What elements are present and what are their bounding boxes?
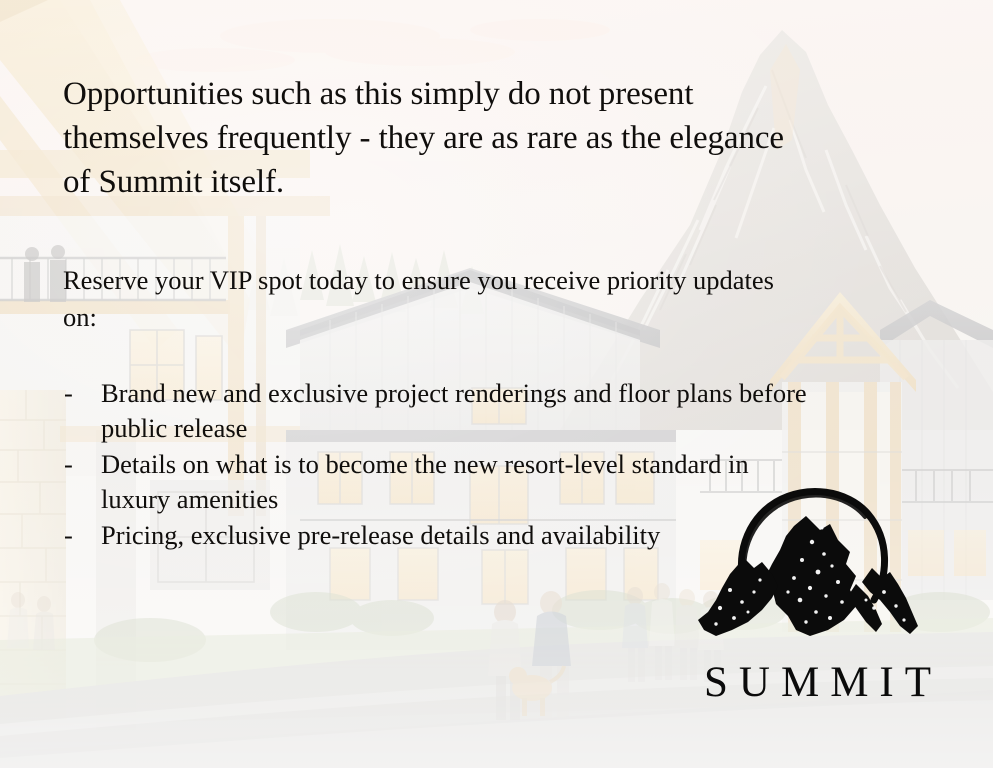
headline-text: Opportunities such as this simply do not…	[63, 72, 805, 204]
subheadline-text: Reserve your VIP spot today to ensure yo…	[63, 262, 811, 336]
summit-logo: SUMMIT	[660, 480, 960, 720]
summit-wordmark: SUMMIT	[660, 660, 960, 706]
bullet-dash-icon: -	[64, 376, 73, 411]
list-item-label: Brand new and exclusive project renderin…	[101, 378, 807, 443]
summit-mountain-logo-icon	[660, 480, 950, 660]
bullet-dash-icon: -	[64, 518, 73, 553]
marketing-slide: Opportunities such as this simply do not…	[0, 0, 993, 768]
list-item-label: Details on what is to become the new res…	[101, 449, 749, 514]
list-item: - Brand new and exclusive project render…	[63, 376, 821, 446]
list-item-label: Pricing, exclusive pre-release details a…	[101, 520, 660, 550]
bullet-dash-icon: -	[64, 447, 73, 482]
